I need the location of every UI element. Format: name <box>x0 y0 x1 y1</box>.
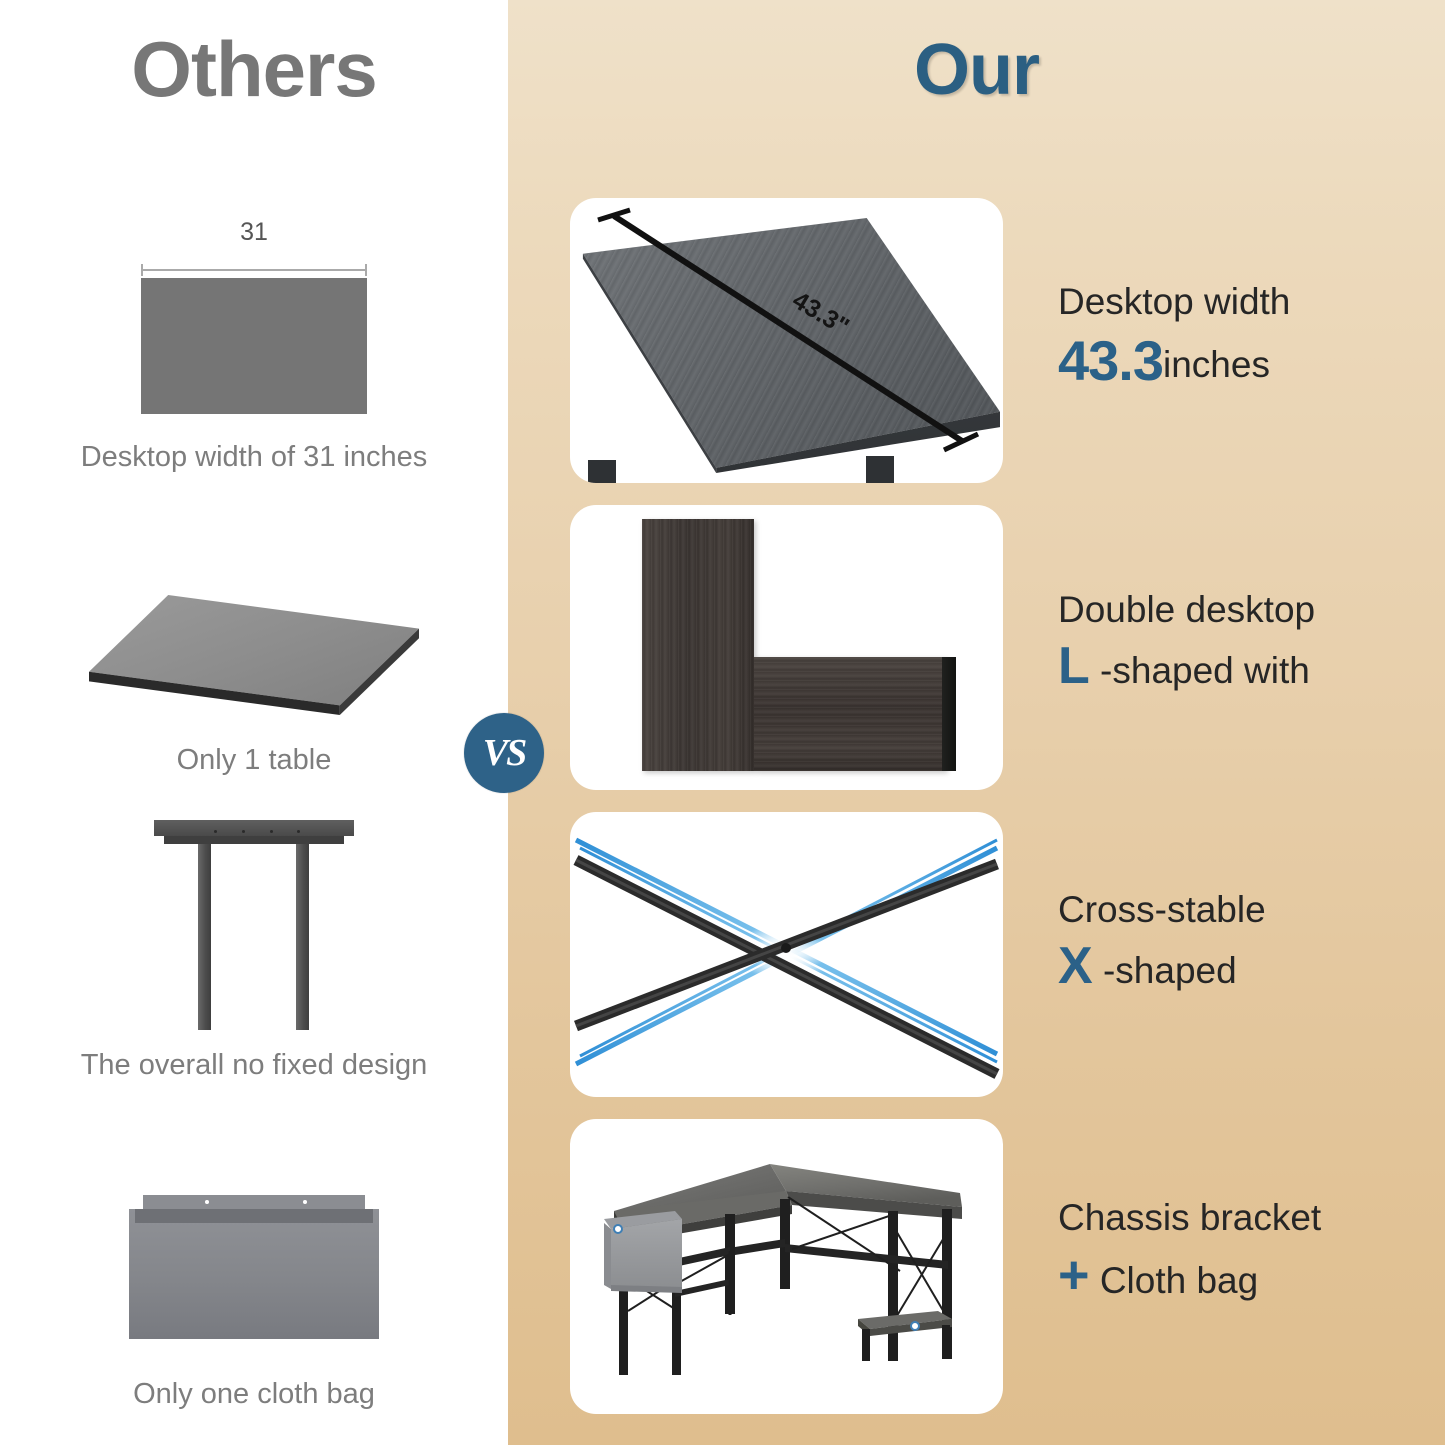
gray-desktop-rectangle <box>141 278 367 414</box>
l-panel-end-cap <box>942 657 956 771</box>
cloth-bag-suffix: Cloth bag <box>1100 1260 1258 1301</box>
vs-badge: VS <box>464 713 544 793</box>
dimension-line <box>141 264 367 276</box>
frame-leg-left <box>198 844 211 1030</box>
frame-screw-hole <box>297 830 300 833</box>
others-item-desktop-width: 31 Desktop width of 31 inches <box>0 218 508 475</box>
our-label-line1: Double desktop <box>1058 588 1445 632</box>
our-heading: Our <box>508 34 1445 106</box>
x-center-joint <box>781 943 791 953</box>
cloth-bag-side <box>604 1223 611 1289</box>
our-card-l-shaped-desktop <box>570 505 1003 790</box>
our-card-assembled-desk <box>570 1119 1003 1414</box>
x-cross-illustration <box>570 812 1003 1097</box>
desk-rail-lower-left <box>675 1279 730 1297</box>
width-dimension-diagram: 31 <box>124 218 384 418</box>
plus-symbol: + <box>1058 1245 1090 1305</box>
others-item-no-fixed-design: The overall no fixed design <box>0 820 508 1083</box>
cloth-bag-illustration <box>129 1195 379 1347</box>
desk-rail-mid <box>735 1239 785 1255</box>
dimension-value-label: 31 <box>124 218 384 247</box>
our-label-cross-stable: Cross-stable X -shaped <box>1058 888 1445 997</box>
our-label-line2: L -shaped with <box>1058 636 1445 697</box>
frame-beam-underside <box>164 836 344 844</box>
desktop-width-value: 43.3 <box>1058 329 1163 392</box>
comparison-infographic: Others Our 31 Desktop width of 31 inches… <box>0 0 1445 1445</box>
our-card-x-cross-brace <box>570 812 1003 1097</box>
l-panel-horizontal <box>754 657 946 771</box>
dimension-line-svg <box>570 198 1003 483</box>
single-tabletop-illustration <box>89 595 419 715</box>
brace-wire-5 <box>792 1215 892 1249</box>
our-label-line2: 43.3inches <box>1058 328 1445 394</box>
l-shape-symbol: L <box>1058 637 1090 695</box>
our-label-desktop-width: Desktop width 43.3inches <box>1058 280 1445 394</box>
our-label-double-desktop: Double desktop L -shaped with <box>1058 588 1445 697</box>
frame-screw-hole <box>270 830 273 833</box>
x-shape-suffix: -shaped <box>1103 950 1237 991</box>
dimension-cap-right <box>365 264 367 276</box>
our-label-line2: + Cloth bag <box>1058 1244 1445 1308</box>
l-shape-suffix: -shaped with <box>1100 650 1310 691</box>
our-label-line2: X -shaped <box>1058 936 1445 997</box>
our-label-line1: Cross-stable <box>1058 888 1445 932</box>
cpu-shelf-marker <box>911 1322 919 1330</box>
frame-top-beam <box>154 820 354 836</box>
desk-frame-illustration <box>154 820 354 1030</box>
cloth-bag-marker <box>614 1225 622 1233</box>
our-card-desktop-width: 43.3" <box>570 198 1003 483</box>
frame-screw-hole <box>214 830 217 833</box>
desktop-width-unit: inches <box>1163 344 1270 385</box>
others-caption-3: The overall no fixed design <box>0 1048 508 1083</box>
cpu-shelf-leg-left <box>862 1329 870 1361</box>
desk-leg-front-left <box>619 1279 628 1375</box>
cpu-shelf-leg-right <box>942 1325 950 1359</box>
our-label-line1: Chassis bracket <box>1058 1196 1445 1240</box>
cloth-bag-opening <box>135 1209 373 1223</box>
frame-leg-right <box>296 844 309 1030</box>
others-caption-4: Only one cloth bag <box>0 1377 508 1412</box>
cloth-bag-grommet <box>205 1200 209 1204</box>
dimension-bar <box>141 269 367 271</box>
others-heading: Others <box>0 30 508 108</box>
our-label-chassis-bracket: Chassis bracket + Cloth bag <box>1058 1196 1445 1307</box>
cloth-bag-grommet <box>303 1200 307 1204</box>
others-item-cloth-bag: Only one cloth bag <box>0 1195 508 1412</box>
l-panel-vertical <box>642 519 754 771</box>
x-shape-symbol: X <box>1058 937 1093 995</box>
frame-screw-hole <box>242 830 245 833</box>
assembled-l-desk-illustration <box>570 1119 1003 1414</box>
others-item-single-table: Only 1 table <box>0 595 508 778</box>
our-label-line1: Desktop width <box>1058 280 1445 324</box>
diagonal-dimension-annotation: 43.3" <box>570 198 1003 483</box>
others-caption-2: Only 1 table <box>0 743 508 778</box>
x-glow-line-b <box>576 848 997 1064</box>
others-caption-1: Desktop width of 31 inches <box>0 440 508 475</box>
cloth-bag-body <box>129 1209 379 1339</box>
